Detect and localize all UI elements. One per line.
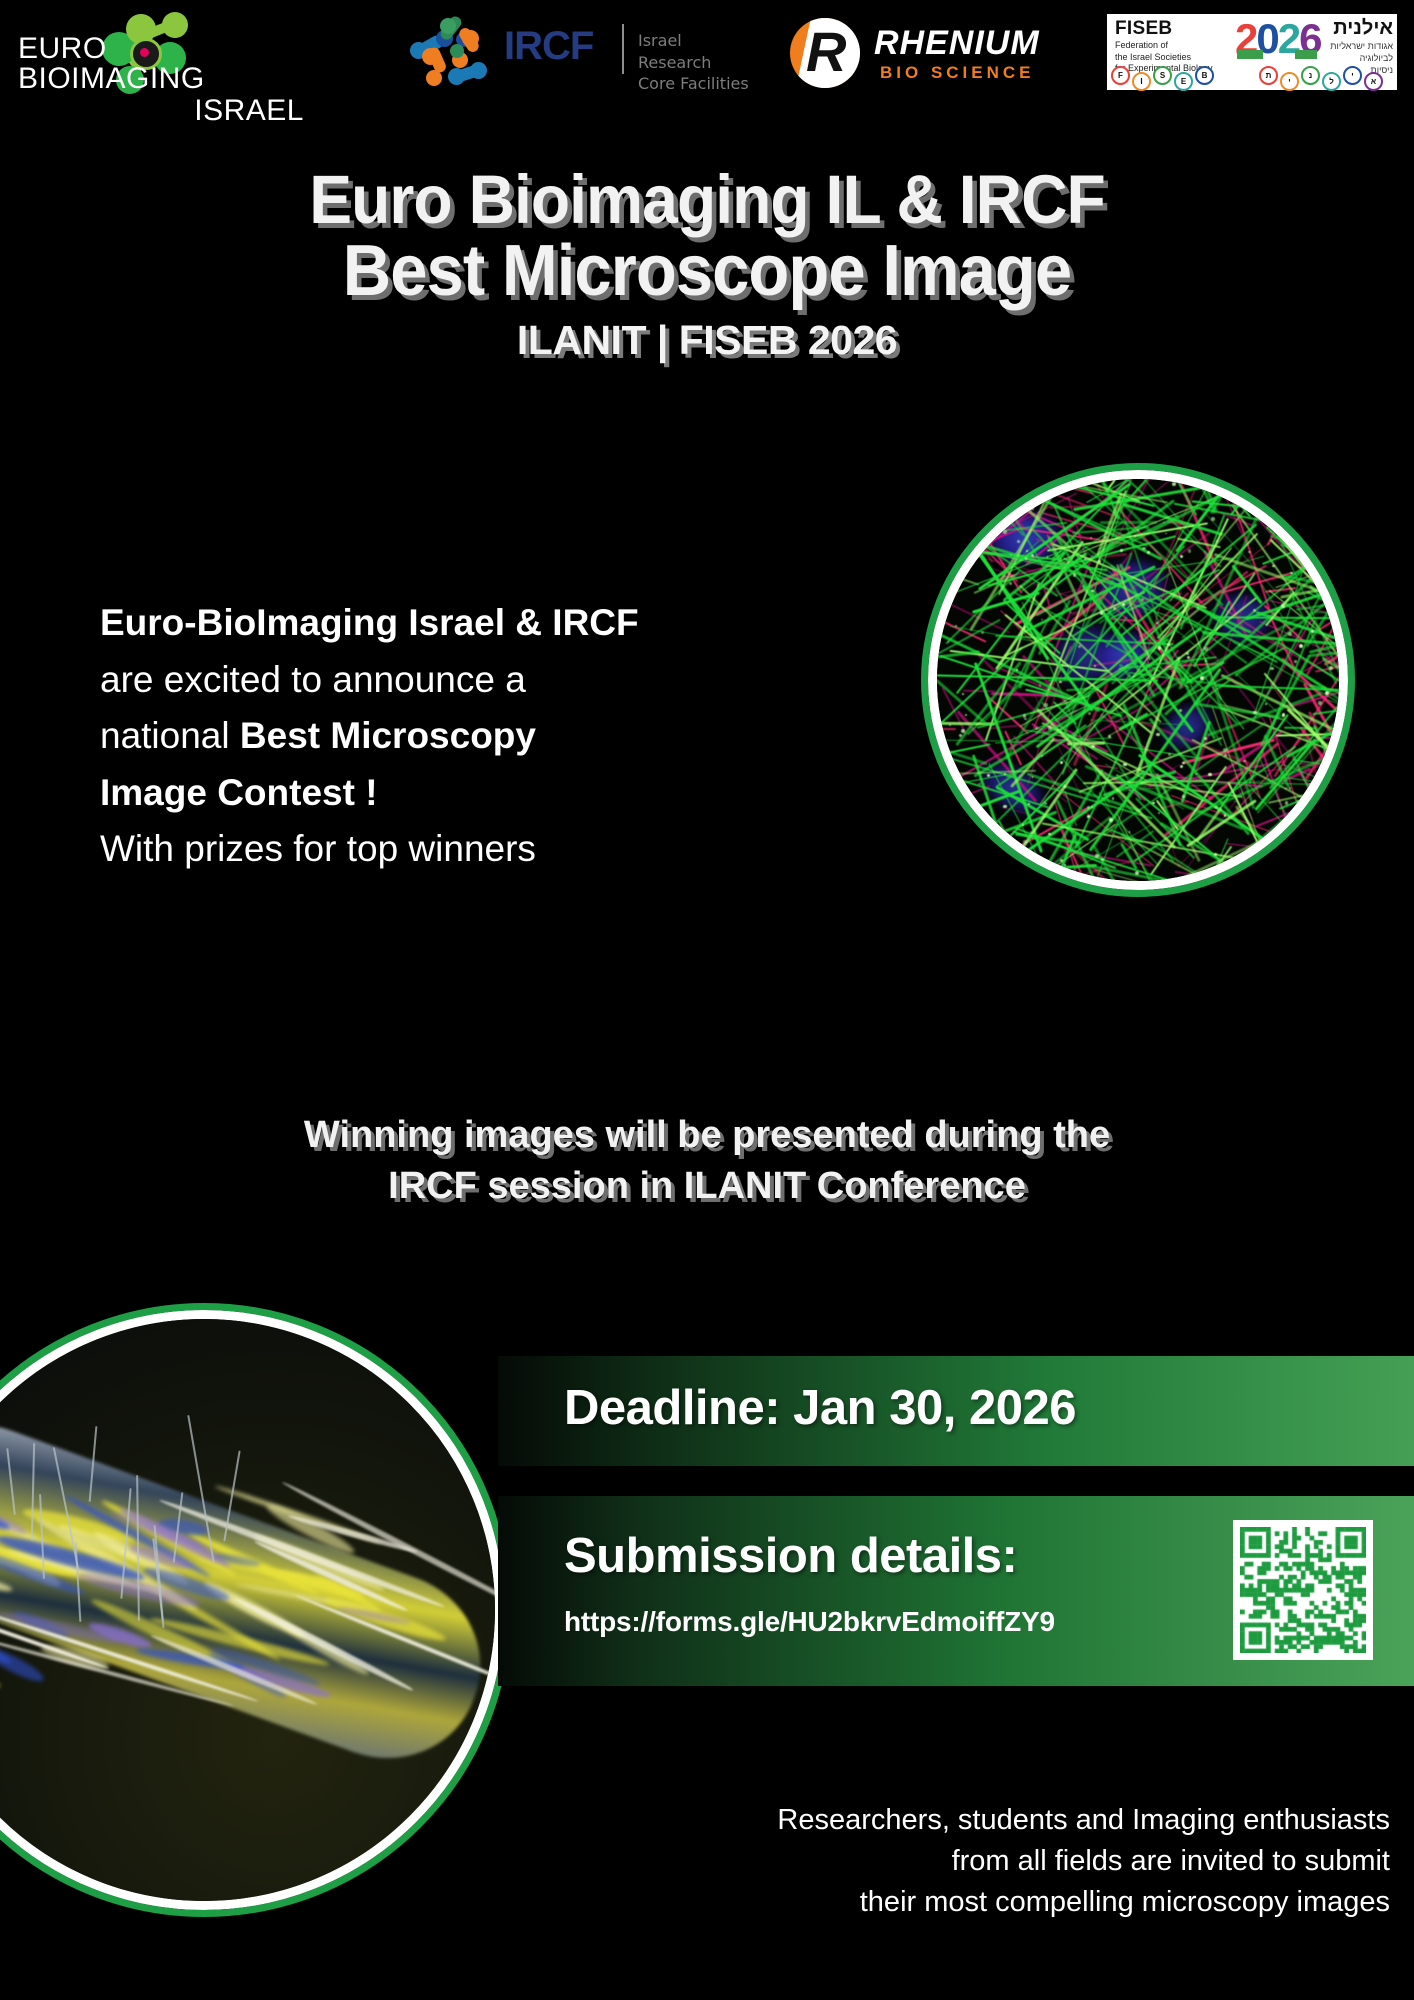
fiseb-year: 2026	[1235, 18, 1320, 60]
deadline-band: Deadline: Jan 30, 2026	[498, 1356, 1414, 1466]
presented-line-2: IRCF session in ILANIT Conference	[0, 1161, 1414, 1212]
submission-url-link[interactable]: https://forms.gle/HU2bkrvEdmoiffZY9	[564, 1606, 1055, 1638]
fiseb-title: FISEB	[1115, 19, 1235, 38]
fiseb-hebrew-title: אילנית	[1330, 18, 1393, 38]
footer-line-3: their most compelling microscopy images	[300, 1882, 1390, 1923]
logo-ircf: IRCF Israel Research Core Facilities	[410, 14, 760, 94]
submission-label: Submission details:	[564, 1528, 1017, 1584]
title-subtitle: ILANIT | FISEB 2026	[0, 317, 1414, 364]
fiseb-hebrew-line2: לביולוגיה	[1330, 52, 1393, 64]
ircf-subtitle-line2: Core Facilities	[638, 73, 760, 95]
qr-code-icon[interactable]	[1233, 1520, 1373, 1660]
molecule-cluster-icon	[410, 18, 492, 92]
fiseb-sub-line2: the Israel Societies	[1115, 52, 1235, 64]
title-line-1: Euro Bioimaging IL & IRCF	[49, 165, 1364, 235]
fiseb-dna-strand-left: FISEB	[1111, 66, 1239, 86]
footer-line-2: from all fields are invited to submit	[300, 1841, 1390, 1882]
ircf-wordmark: IRCF	[504, 26, 593, 66]
deadline-label: Deadline: Jan 30, 2026	[564, 1380, 1076, 1436]
ebi-word-euro: EURO	[18, 32, 107, 65]
fiseb-hebrew-line1: אגודות ישראליות	[1330, 40, 1393, 52]
dna-bead: S	[1153, 66, 1172, 85]
submission-band: Submission details: https://forms.gle/HU…	[498, 1496, 1414, 1686]
dna-bead: י	[1280, 72, 1299, 91]
presented-note: Winning images will be presented during …	[0, 1110, 1414, 1213]
lead-strong-contest-2: Image Contest !	[100, 772, 378, 813]
lead-plain-3: With prizes for top winners	[100, 821, 800, 878]
rhenium-tagline: BIO SCIENCE	[880, 64, 1035, 81]
ircf-subtitle-line1: Israel Research	[638, 30, 760, 73]
dna-bead: E	[1174, 72, 1193, 91]
footer-note: Researchers, students and Imaging enthus…	[300, 1800, 1390, 1924]
fiseb-sub-line1: Federation of	[1115, 40, 1235, 52]
lead-strong-organizers: Euro-BioImaging Israel & IRCF	[100, 602, 639, 643]
ebi-word-israel: ISRAEL	[18, 94, 348, 129]
fluorescence-cells-image	[928, 470, 1348, 890]
logo-rhenium-bioscience: R RHENIUM BIO SCIENCE	[790, 14, 1060, 92]
logo-euro-bioimaging-israel: EURO BIOIMAGING ISRAEL	[18, 8, 348, 100]
dna-bead: א	[1364, 72, 1383, 91]
rhenium-r-icon: R	[790, 18, 860, 88]
title-line-2: Best Microscope Image	[49, 235, 1364, 308]
dna-bead: ל	[1322, 72, 1341, 91]
rhenium-wordmark: RHENIUM	[874, 26, 1040, 60]
dna-bead: F	[1111, 66, 1130, 85]
dna-bead: ת	[1259, 66, 1278, 85]
rhenium-mark-letter: R	[806, 24, 846, 80]
presented-line-1: Winning images will be presented during …	[0, 1110, 1414, 1161]
poster-title: Euro Bioimaging IL & IRCF Best Microscop…	[0, 165, 1414, 364]
lead-paragraph: Euro-BioImaging Israel & IRCF are excite…	[100, 595, 800, 878]
logo-fiseb-2026: FISEB Federation of the Israel Societies…	[1107, 14, 1397, 90]
ircf-subtitle: Israel Research Core Facilities	[638, 30, 760, 95]
ircf-divider	[622, 24, 624, 74]
dna-bead: נ	[1301, 66, 1320, 85]
dna-bead: I	[1132, 72, 1151, 91]
fiseb-dna-strand-right: תינליא	[1259, 66, 1387, 86]
logo-bar: EURO BIOIMAGING ISRAEL IRCF	[0, 0, 1414, 105]
dna-bead: B	[1195, 66, 1214, 85]
lead-plain-1: are excited to announce a	[100, 652, 800, 709]
fluorescence-cells-canvas	[937, 479, 1339, 881]
lead-strong-contest-1: Best Microscopy	[240, 715, 536, 756]
ebi-word-bioimaging: BIOIMAGING	[18, 62, 205, 95]
footer-line-1: Researchers, students and Imaging enthus…	[300, 1800, 1390, 1841]
dna-bead: י	[1343, 66, 1362, 85]
lead-plain-2: national	[100, 715, 240, 756]
